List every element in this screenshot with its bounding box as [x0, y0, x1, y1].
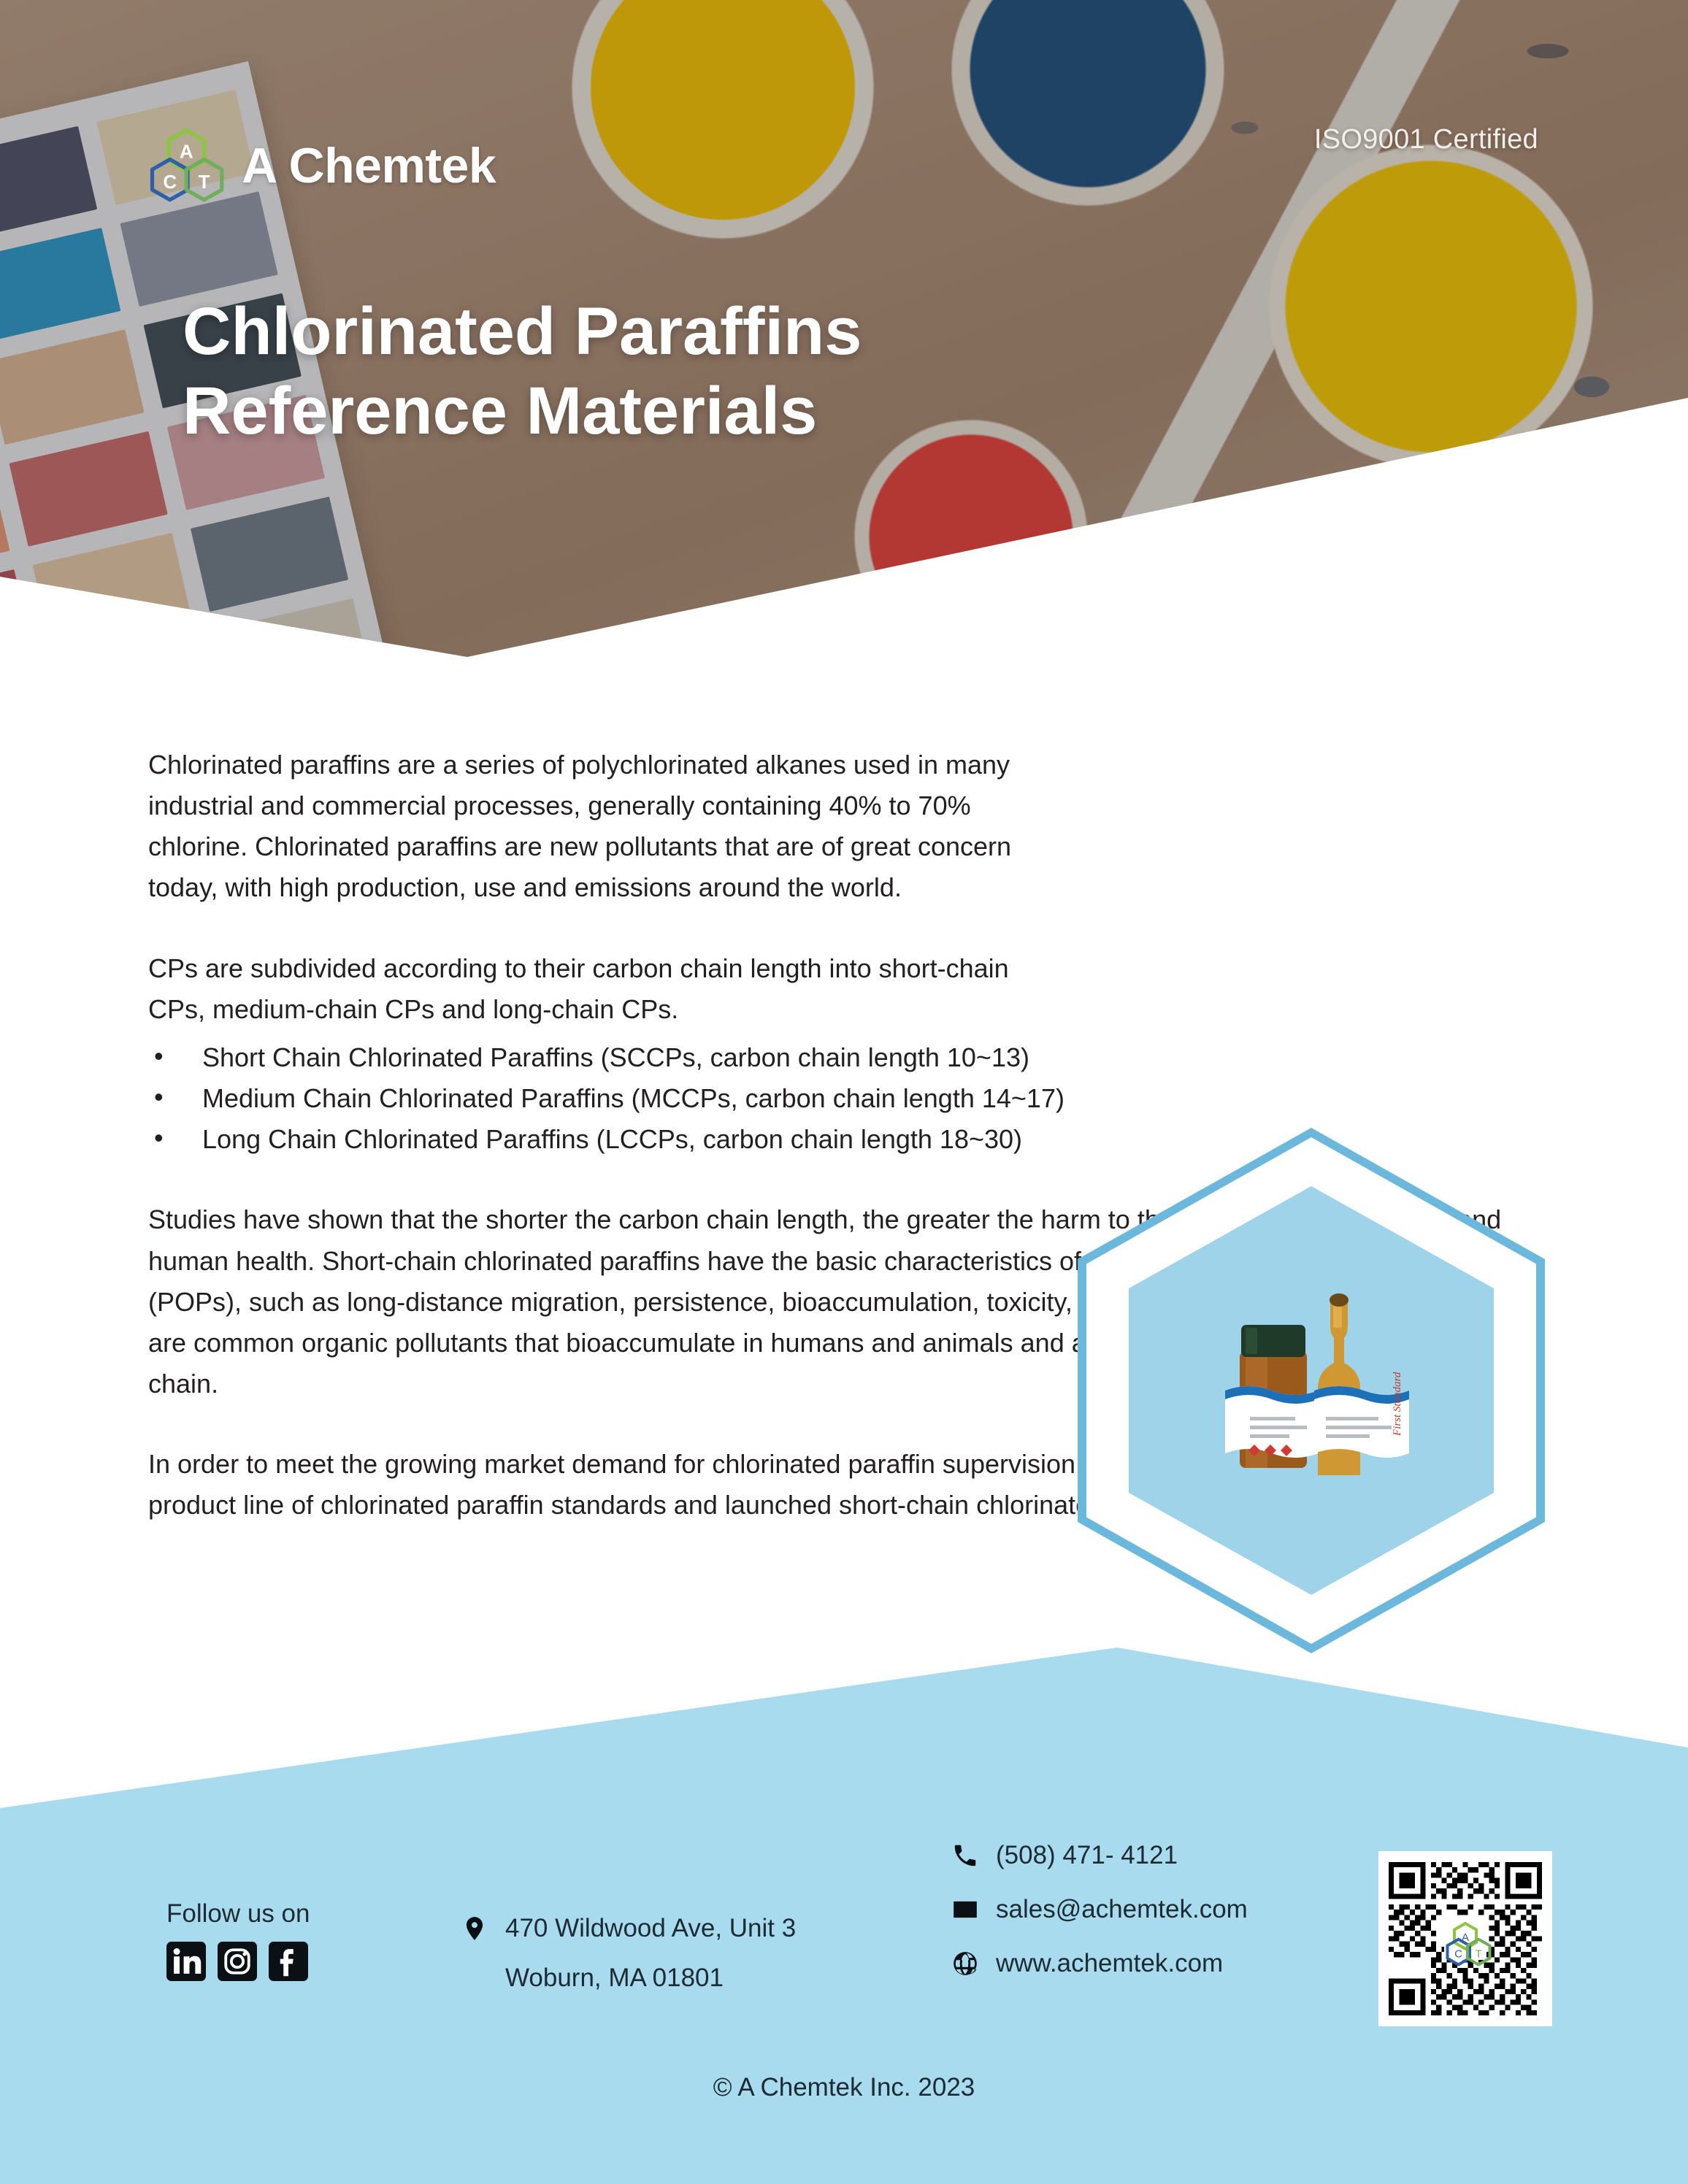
svg-text:C: C [1454, 1947, 1462, 1960]
act-hexagon-logo-icon: A C T [150, 128, 226, 204]
email-line: sales@achemtek.com [949, 1893, 1248, 1926]
contact-section: (508) 471- 4121 sales@achemtek.com www.a… [949, 1839, 1248, 2002]
header-banner: A C T A Chemtek ISO9001 Certified Chlori… [0, 0, 1688, 657]
website-url[interactable]: www.achemtek.com [996, 1947, 1223, 1980]
svg-text:T: T [199, 171, 210, 193]
product-vials-image: First Standard [1187, 1281, 1435, 1522]
envelope-icon [949, 1893, 981, 1926]
page-title-line-2: Reference Materials [183, 372, 1278, 451]
phone-line: (508) 471- 4121 [949, 1839, 1248, 1872]
location-pin-icon [459, 1912, 491, 1945]
flyer-page: A C T A Chemtek ISO9001 Certified Chlori… [0, 0, 1688, 2184]
achemtek-qr-code: A C T [1389, 1861, 1542, 2016]
social-icon-row [166, 1942, 310, 1981]
list-item: Medium Chain Chlorinated Paraffins (MCCP… [148, 1078, 1506, 1119]
email-address[interactable]: sales@achemtek.com [996, 1893, 1248, 1926]
footer: Follow us on [0, 1629, 1688, 2184]
svg-text:First Standard: First Standard [1392, 1372, 1403, 1437]
brand-name: A Chemtek [242, 137, 496, 194]
paragraph-classification: CPs are subdivided according to their ca… [148, 948, 1057, 1030]
facebook-icon[interactable] [269, 1942, 308, 1981]
address-section: 470 Wildwood Ave, Unit 3 Woburn, MA 0180… [459, 1912, 796, 1993]
follow-us-label: Follow us on [166, 1899, 310, 1929]
svg-text:A: A [1462, 1931, 1470, 1944]
iso-certification-label: ISO9001 Certified [1314, 124, 1538, 155]
instagram-icon[interactable] [218, 1942, 257, 1981]
list-item: Short Chain Chlorinated Paraffins (SCCPs… [148, 1037, 1506, 1078]
linkedin-icon[interactable] [166, 1942, 206, 1981]
address-line-1: 470 Wildwood Ave, Unit 3 [505, 1912, 796, 1945]
product-hexagon-graphic: First Standard [1070, 1120, 1552, 1661]
brand-lockup: A C T A Chemtek [150, 128, 496, 204]
page-title-line-1: Chlorinated Paraffins [183, 292, 1278, 372]
globe-icon [949, 1947, 981, 1980]
svg-text:T: T [1475, 1947, 1481, 1960]
svg-text:A: A [180, 141, 193, 163]
address-line: 470 Wildwood Ave, Unit 3 [459, 1912, 796, 1945]
copyright-text: © A Chemtek Inc. 2023 [0, 2073, 1688, 2102]
qr-code-container[interactable]: A C T [1378, 1851, 1552, 2026]
svg-text:C: C [163, 171, 177, 193]
social-section: Follow us on [166, 1899, 310, 1981]
phone-number[interactable]: (508) 471- 4121 [996, 1839, 1178, 1872]
website-line: www.achemtek.com [949, 1947, 1248, 1980]
paragraph-intro: Chlorinated paraffins are a series of po… [148, 745, 1057, 909]
address-line-2: Woburn, MA 01801 [505, 1964, 796, 1993]
phone-icon [949, 1839, 981, 1872]
page-title: Chlorinated Paraffins Reference Material… [183, 292, 1278, 450]
